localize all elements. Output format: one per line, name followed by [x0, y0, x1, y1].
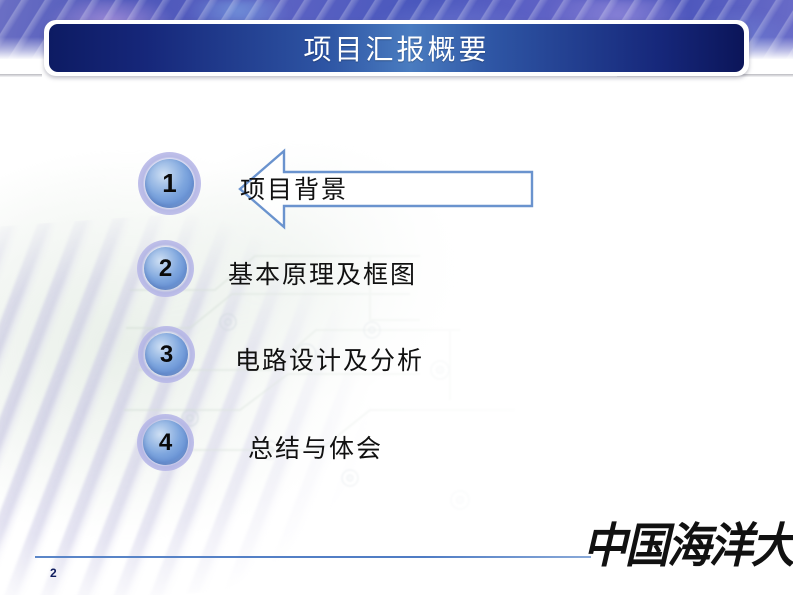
agenda-badge-4: 4	[137, 414, 194, 471]
agenda-number-3: 3	[160, 341, 173, 369]
agenda-label-1: 项目背景	[240, 170, 348, 206]
page-number: 2	[50, 566, 57, 580]
footer-divider	[35, 556, 591, 558]
presentation-slide: 项目汇报概要 1 项目背景 2 基本原理及框图	[0, 0, 793, 595]
agenda-badge-3: 3	[138, 326, 195, 383]
university-logo: 中国海洋大学	[583, 516, 783, 578]
agenda-label-4: 总结与体会	[248, 429, 383, 465]
agenda-list: 1 项目背景 2 基本原理及框图 3 电路设计及分析	[0, 0, 793, 595]
university-logo-text: 中国海洋大学	[583, 514, 783, 581]
agenda-number-1: 1	[162, 168, 176, 199]
agenda-number-2: 2	[159, 255, 172, 283]
agenda-badge-1: 1	[138, 152, 201, 215]
agenda-badge-2: 2	[137, 240, 194, 297]
agenda-label-2: 基本原理及框图	[228, 255, 417, 291]
agenda-number-4: 4	[159, 429, 172, 457]
agenda-label-3: 电路设计及分析	[235, 341, 424, 377]
